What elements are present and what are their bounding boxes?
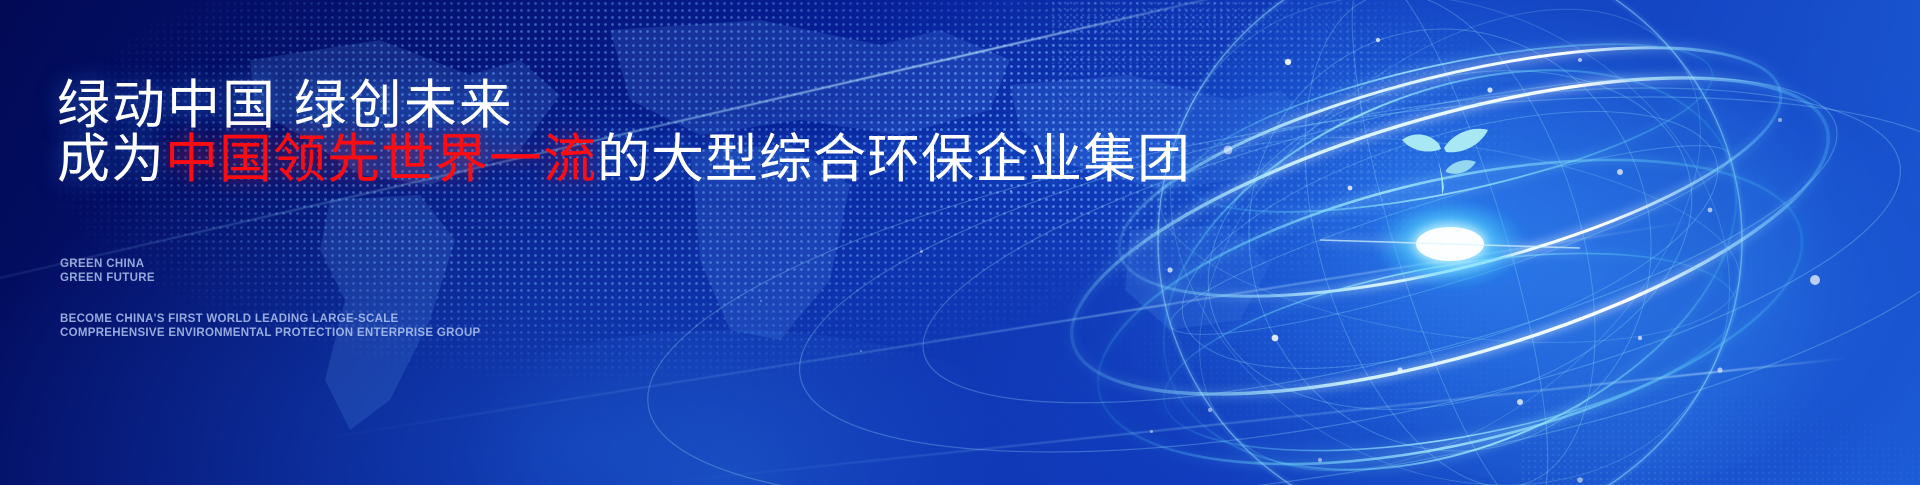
hex-texture-patch-left [1310,20,1490,280]
headline-line-2-suffix: 的大型综合环保企业集团 [597,130,1191,189]
headline-line-2: 成为中国领先世界一流的大型综合环保企业集团 [57,133,1191,186]
hex-texture-patch-bottom [1520,380,1920,485]
hex-texture-patch-mid [1100,250,1520,450]
headline-line-2-prefix: 成为 [57,130,165,189]
star-particle [1010,190,1012,192]
tagline-english-line-2: COMPREHENSIVE ENVIRONMENTAL PROTECTION E… [60,327,481,341]
headline-line-1: 绿动中国 绿创未来 [57,79,514,132]
light-sweep-2 [309,221,1692,441]
wireframe-globe-graphic [1020,0,1920,485]
headline-line-2-highlight: 中国领先世界一流 [165,130,597,189]
star-particle [760,300,762,302]
tagline-english: BECOME CHINA'S FIRST WORLD LEADING LARGE… [60,313,481,340]
slogan-english-line-2: GREEN FUTURE [60,272,155,286]
slogan-english-line-1: GREEN CHINA [60,258,155,272]
ambient-glow-bottom [380,330,1080,485]
star-particle [1150,430,1153,433]
sprout-leaf-icon [1398,108,1494,200]
hero-banner: 绿动中国 绿创未来 成为中国领先世界一流的大型综合环保企业集团 GREEN CH… [0,0,1920,485]
dotted-world-map-background-secondary [0,0,1920,485]
star-particle [860,350,862,352]
slogan-english: GREEN CHINA GREEN FUTURE [60,258,155,285]
star-particle [920,250,923,253]
dotted-world-map-background [0,0,1920,485]
tagline-english-line-1: BECOME CHINA'S FIRST WORLD LEADING LARGE… [60,313,481,327]
hex-texture-patch-top [1050,0,1350,140]
ambient-glow-right [1280,70,1900,485]
world-map-continents [0,0,1920,485]
light-sweep-3 [653,357,1847,484]
